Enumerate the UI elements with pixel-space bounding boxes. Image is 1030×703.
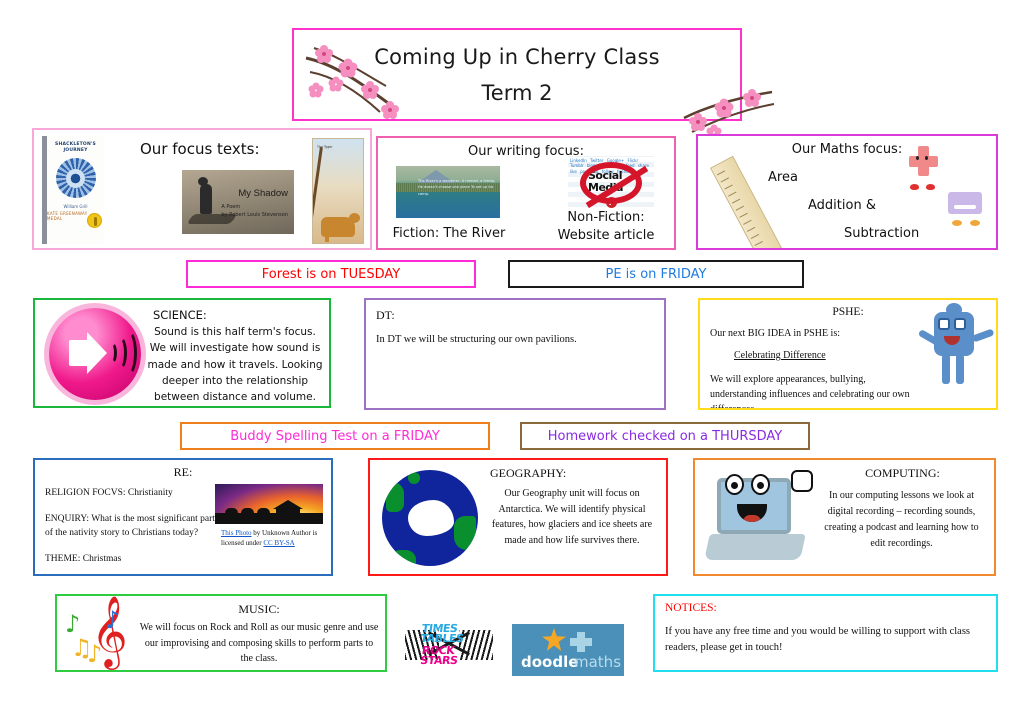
- photo-credit: This Photo by Unknown Author is licensed…: [221, 528, 325, 548]
- book-title: SHACKLETON'S JOURNEY: [47, 142, 104, 153]
- river-poem-image: The River's a wanderer, A nomad, a tramp…: [396, 166, 500, 218]
- geography-body: Our Geography unit will focus on Antarct…: [486, 486, 658, 548]
- re-panel: RE: RELIGION FOCVS: Christianity ENQUIRY…: [33, 458, 333, 576]
- my-shadow-subtitle: A Poem by Robert Louis Stevenson: [221, 204, 288, 219]
- antarctica-shape: [408, 500, 454, 536]
- music-body: We will focus on Rock and Roll as our mu…: [139, 620, 379, 667]
- medal-sticker-icon: [87, 213, 102, 228]
- river-poem-lines: The River's a wanderer, A nomad, a tramp…: [418, 178, 496, 197]
- tiger-icon: [321, 217, 355, 237]
- cc-license-link[interactable]: CC BY-SA: [263, 539, 294, 547]
- focus-texts-panel: SHACKLETON'S JOURNEY William Grill KATE …: [32, 128, 372, 250]
- pe-banner: PE is on FRIDAY: [508, 260, 804, 288]
- re-heading: RE:: [35, 465, 331, 480]
- spelling-banner: Buddy Spelling Test on a FRIDAY: [180, 422, 490, 450]
- my-shadow-sub2: by Robert Louis Stevenson: [221, 212, 288, 218]
- spelling-banner-text: Buddy Spelling Test on a FRIDAY: [230, 429, 440, 444]
- music-heading: MUSIC:: [137, 602, 381, 617]
- title-banner: Coming Up in Cherry Class Term 2: [292, 28, 742, 121]
- minus-character-icon: [944, 188, 988, 228]
- computing-heading: COMPUTING:: [819, 466, 986, 481]
- tyger-poem-illustration: The Tyger: [312, 138, 364, 244]
- nonfiction-caption-line2: Website article: [540, 228, 672, 243]
- ttrs-line1: TIMES TABLES: [420, 624, 495, 645]
- puzzle-person-icon: [924, 306, 984, 398]
- re-theme: THEME: Christmas: [45, 552, 217, 567]
- maths-focus-panel: Our Maths focus: Area Addition & Subtrac…: [696, 134, 998, 250]
- science-panel: SCIENCE: Sound is this half term's focus…: [33, 298, 331, 408]
- science-heading: SCIENCE:: [153, 308, 207, 322]
- my-shadow-sub1: A Poem: [221, 204, 240, 210]
- forest-banner-text: Forest is on TUESDAY: [262, 267, 400, 282]
- homework-banner: Homework checked on a THURSDAY: [520, 422, 810, 450]
- book-cover-art: [56, 158, 96, 198]
- prohibition-sign-icon: [580, 162, 642, 204]
- speaker-cone-shape: [69, 340, 89, 366]
- doodle-cross-icon: [570, 632, 592, 652]
- plus-character-icon: [902, 144, 944, 198]
- music-panel: 𝄞 ♪ ♪ ♫ ♪ MUSIC: We will focus on Rock a…: [55, 594, 387, 672]
- computing-panel: COMPUTING: In our computing lessons we l…: [693, 458, 996, 576]
- notices-panel: NOTICES: If you have any free time and y…: [653, 594, 998, 672]
- waving-hand-icon: [791, 470, 813, 492]
- page-title-line1: Coming Up in Cherry Class: [374, 45, 659, 69]
- speaker-icon: [49, 308, 141, 400]
- doodle-star-icon: [542, 628, 566, 651]
- newsletter-page: Coming Up in Cherry Class Term 2 SHACKL: [0, 0, 1030, 703]
- re-body: RELIGION FOCVS: Christianity ENQUIRY: Wh…: [45, 486, 217, 576]
- pe-banner-text: PE is on FRIDAY: [606, 267, 707, 282]
- book-author: William Grill: [63, 204, 87, 209]
- computing-body: In our computing lessons we look at digi…: [817, 488, 986, 552]
- pshe-big-idea: Celebrating Difference: [734, 350, 826, 361]
- tyger-poem-text: The Tyger: [317, 145, 359, 150]
- forest-banner: Forest is on TUESDAY: [186, 260, 476, 288]
- page-title-line2: Term 2: [482, 81, 553, 105]
- maths-topic-addition: Addition &: [808, 198, 876, 213]
- maths-focus-label: Our Maths focus:: [698, 142, 996, 157]
- ttrs-line2: ROCK STARS: [420, 646, 495, 667]
- my-shadow-title: My Shadow: [238, 188, 288, 199]
- shackletons-journey-book-cover: SHACKLETON'S JOURNEY William Grill KATE …: [42, 136, 104, 244]
- globe-antarctica-icon: [382, 470, 478, 566]
- homework-banner-text: Homework checked on a THURSDAY: [548, 429, 783, 444]
- pshe-body: We will explore appearances, bullying, u…: [710, 372, 910, 410]
- notices-heading: NOTICES:: [665, 602, 717, 614]
- tree-branch-shape: [312, 147, 323, 217]
- nativity-scene-image: [215, 484, 323, 524]
- dt-panel: DT: In DT we will be structuring our own…: [364, 298, 666, 410]
- stable-shape: [273, 500, 303, 516]
- re-religion-focus: RELIGION FOCVS: Christianity: [45, 486, 217, 501]
- science-body: Sound is this half term's focus. We will…: [145, 324, 325, 405]
- laptop-character-icon: [703, 468, 813, 568]
- music-notes-icon: 𝄞 ♪ ♪ ♫ ♪: [65, 600, 139, 670]
- pshe-panel: PSHE: Our next BIG IDEA in PSHE is: Cele…: [698, 298, 998, 410]
- notices-body: If you have any free time and you would …: [665, 624, 986, 657]
- pshe-intro: Our next BIG IDEA in PSHE is:: [710, 328, 840, 339]
- maths-topic-subtraction: Subtraction: [844, 226, 919, 241]
- dt-heading: DT:: [376, 308, 395, 323]
- this-photo-link[interactable]: This Photo: [221, 529, 252, 537]
- nonfiction-caption-line1: Non-Fiction:: [540, 210, 672, 225]
- doodle-word1: doodle: [521, 653, 578, 671]
- my-shadow-poem-card: My Shadow A Poem by Robert Louis Stevens…: [182, 170, 294, 234]
- no-social-media-image: LinkedIn Twitter Google+ Flickr Tumblr b…: [568, 156, 654, 212]
- geography-heading: GEOGRAPHY:: [490, 466, 566, 481]
- focus-texts-label: Our focus texts:: [140, 140, 260, 158]
- times-tables-rock-stars-logo: TIMES TABLES ROCK STARS: [405, 616, 493, 678]
- fiction-caption: Fiction: The River: [384, 226, 514, 241]
- boy-figure-icon: [200, 184, 212, 214]
- doodle-maths-logo: doodle maths: [512, 624, 624, 676]
- maths-topic-area: Area: [768, 170, 798, 185]
- writing-focus-panel: Our writing focus: The River's a wandere…: [376, 136, 676, 250]
- geography-panel: GEOGRAPHY: Our Geography unit will focus…: [368, 458, 668, 576]
- doodle-word2: maths: [574, 653, 621, 671]
- dt-body: In DT we will be structuring our own pav…: [376, 332, 654, 348]
- re-enquiry: ENQUIRY: What is the most significant pa…: [45, 512, 217, 541]
